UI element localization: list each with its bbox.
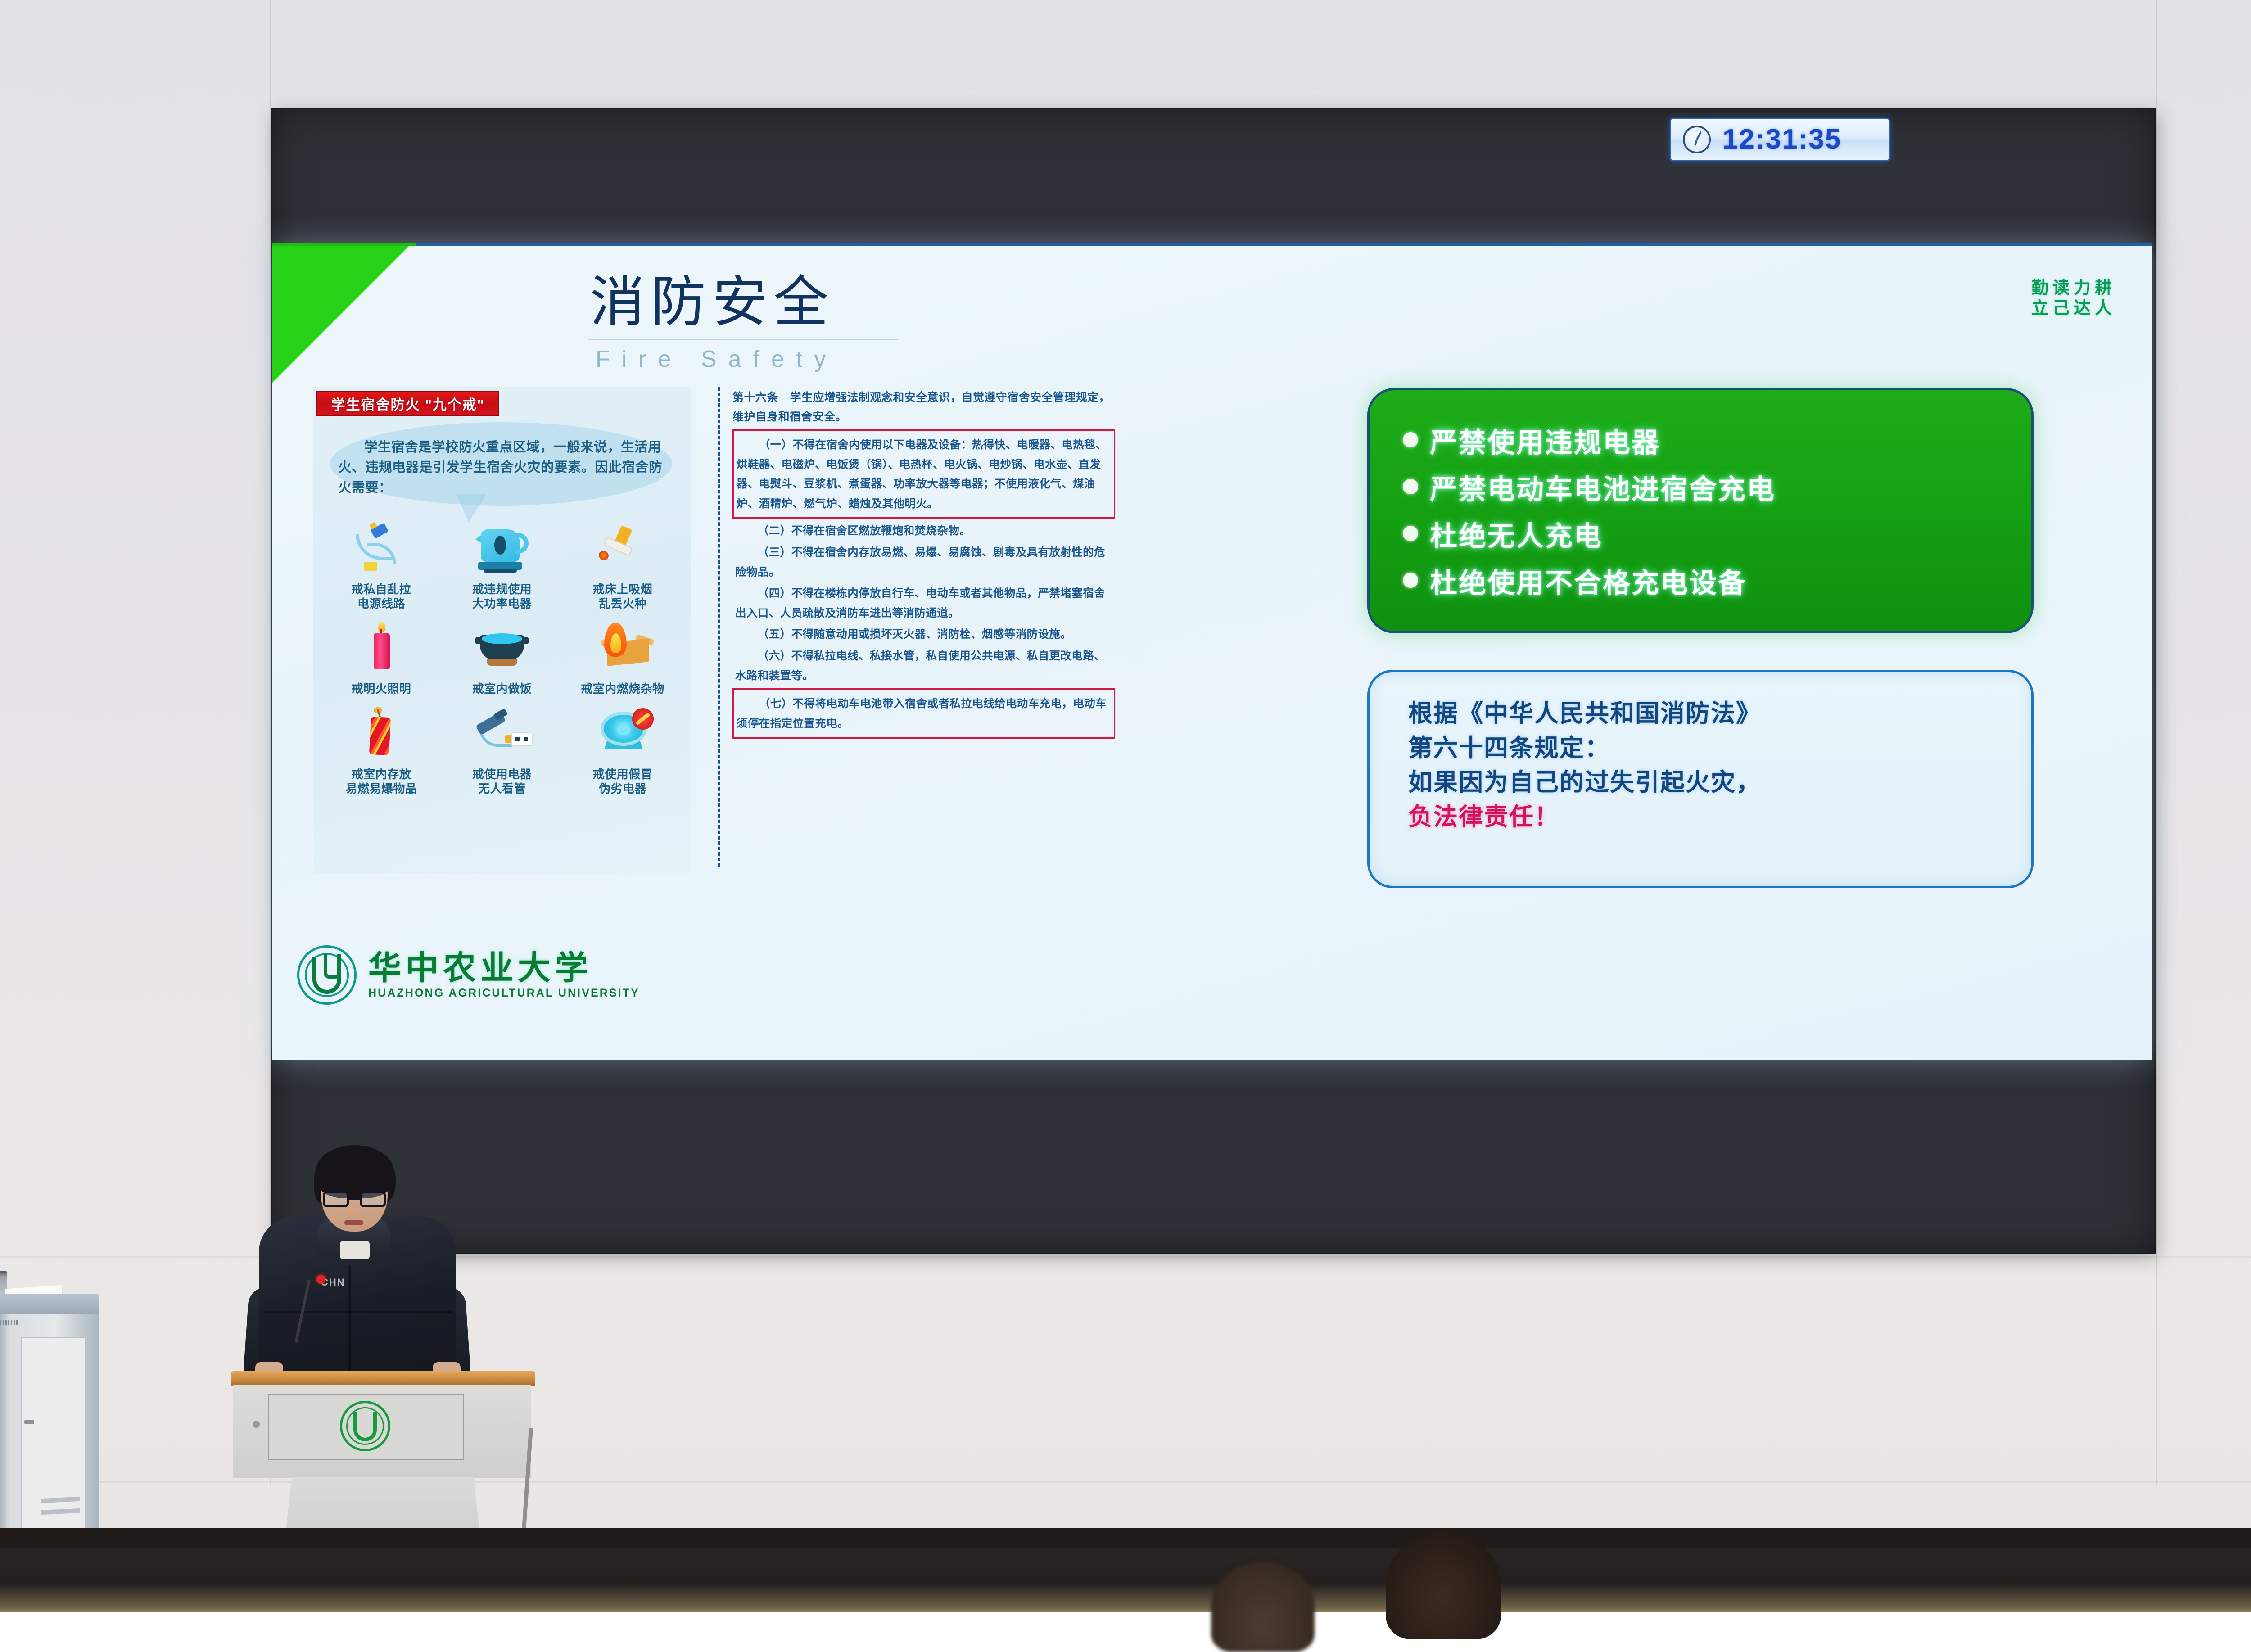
bullet-icon	[1403, 573, 1418, 588]
green-corner-edge	[272, 243, 416, 246]
icon-cell: 戒床上吸烟乱丢火种	[562, 522, 683, 611]
article-text: 学生应增强法制观念和安全意识，自觉遵守宿舍安全管理规定，维护自身和宿舍安全。	[732, 391, 1110, 423]
electric-kettle-icon	[468, 522, 536, 580]
clause-5: （五）不得随意动用或损坏灭火器、消防栓、烟感等消防设施。	[732, 624, 1115, 645]
counterfeit-fan-icon	[589, 707, 656, 765]
icon-cell: 戒室内做饭	[442, 622, 562, 696]
law-line-2: 第六十四条规定：	[1408, 731, 2031, 766]
microphone-indicator	[316, 1275, 325, 1284]
icon-label: 戒使用电器无人看管	[472, 767, 532, 796]
icon-cell: 戒使用假冒伪劣电器	[562, 707, 683, 796]
law-line-1: 根据《中华人民共和国消防法》	[1408, 696, 2031, 731]
clause-7: （七）不得将电动车电池带入宿舍或者私拉电线给电动车充电，电动车须停在指定位置充电…	[732, 688, 1115, 738]
green-box-label: 严禁使用违规电器	[1430, 420, 1660, 460]
clause-3: （三）不得在宿舍内存放易燃、易爆、易腐蚀、剧毒及具有放射性的危险物品。	[732, 542, 1115, 583]
icon-cell: 戒室内存放易燃易爆物品	[321, 707, 442, 796]
icon-cell: 戒私自乱拉电源线路	[321, 522, 442, 611]
motto-line-2: 立己达人	[2031, 298, 2116, 319]
icon-cell: 戒室内燃烧杂物	[562, 622, 683, 696]
article-term: 第十六条	[732, 391, 778, 404]
university-name-en: HUAZHONG AGRICULTURAL UNIVERSITY	[368, 987, 640, 999]
icon-label: 戒室内存放易燃易爆物品	[345, 767, 417, 796]
audience-head	[1211, 1562, 1315, 1652]
podium-university-crest-icon	[340, 1401, 390, 1451]
university-motto: 勤读力耕 立己达人	[2031, 278, 2116, 319]
icon-label: 戒明火照明	[352, 682, 411, 696]
icon-label: 戒私自乱拉电源线路	[352, 582, 411, 611]
university-name-cn: 华中农业大学	[368, 951, 640, 985]
page-subtitle: Fire Safety	[596, 346, 837, 373]
icon-label: 戒违规使用大功率电器	[472, 582, 532, 611]
unattended-appliance-icon	[468, 707, 536, 765]
presenter-shirt	[340, 1241, 370, 1259]
side-cabinet	[0, 1294, 99, 1551]
presenter-mouth	[344, 1220, 363, 1225]
icon-label: 戒室内做饭	[472, 682, 532, 696]
speech-bubble-tail	[456, 494, 487, 522]
title-divider	[588, 339, 898, 340]
cabinet-door[interactable]	[21, 1337, 86, 1535]
fire-law-blue-box: 根据《中华人民共和国消防法》 第六十四条规定： 如果因为自己的过失引起火灾， 负…	[1367, 670, 2034, 888]
podium-top	[231, 1371, 535, 1386]
presenter-hair	[316, 1145, 394, 1198]
prohibitions-green-box: 严禁使用违规电器 严禁电动车电池进宿舍充电 杜绝无人充电 杜绝使用不合格充电设备	[1367, 388, 2034, 633]
green-box-label: 杜绝使用不合格充电设备	[1430, 560, 1747, 600]
university-logo: 华中农业大学 HUAZHONG AGRICULTURAL UNIVERSITY	[297, 945, 640, 1005]
cabinet-handle[interactable]	[24, 1420, 34, 1424]
speech-bubble: 学生宿舍是学校防火重点区域，一般来说，生活用火、违规电器是引发学生宿舍火灾的要素…	[321, 422, 681, 519]
clock-widget: 12:31:35	[1670, 118, 1890, 161]
column-divider	[718, 387, 720, 867]
university-crest-icon	[297, 945, 357, 1005]
clause-6: （六）不得私拉电线、私接水管，私自使用公共电源、私自更改电路、水路和装置等。	[732, 645, 1115, 686]
cabinet-top	[0, 1294, 99, 1316]
clock-time: 12:31:35	[1722, 126, 1841, 153]
icon-label: 戒床上吸烟乱丢火种	[593, 582, 653, 611]
icon-cell: 戒违规使用大功率电器	[442, 522, 562, 611]
prohibition-badge-icon	[632, 708, 654, 730]
power-cord-icon	[348, 522, 415, 580]
baseboard	[0, 1528, 2251, 1550]
candle-icon	[348, 622, 415, 679]
dormitory-fire-prevention-infographic: 学生宿舍防火 "九个戒" 学生宿舍是学校防火重点区域，一般来说，生活用火、违规电…	[313, 387, 691, 873]
clock-icon	[1683, 126, 1711, 153]
bullet-icon	[1403, 479, 1418, 494]
motto-line-1: 勤读力耕	[2031, 278, 2116, 298]
prohibition-icon-grid: 戒私自乱拉电源线路 戒违规使用大功率电器 戒床上吸烟乱丢火种	[321, 522, 683, 796]
jacket-seam-vertical	[348, 1265, 351, 1377]
floor	[0, 1548, 2251, 1612]
cabinet-vent	[0, 1320, 18, 1325]
icon-cell: 戒明火照明	[321, 622, 442, 696]
page-title: 消防安全	[590, 275, 835, 329]
infographic-banner: 学生宿舍防火 "九个戒"	[316, 391, 499, 416]
lecture-hall-room: 12:31:35 消防安全 Fire Safety 勤读力耕 立己达人 学生宿舍…	[0, 0, 2251, 1612]
clause-2: （二）不得在宿舍区燃放鞭炮和焚烧杂物。	[732, 520, 1115, 542]
icon-label: 戒使用假冒伪劣电器	[593, 767, 653, 796]
green-box-item: 杜绝使用不合格充电设备	[1403, 557, 2031, 604]
bullet-icon	[1403, 526, 1418, 541]
jacket-seam-horizontal	[263, 1311, 452, 1313]
clause-4: （四）不得在楼栋内停放自行车、电动车或者其他物品，严禁堵塞宿舍出入口、人员疏散及…	[732, 583, 1115, 624]
audience-head	[1386, 1531, 1501, 1639]
university-name-block: 华中农业大学 HUAZHONG AGRICULTURAL UNIVERSITY	[368, 951, 640, 999]
green-box-label: 严禁电动车电池进宿舍充电	[1430, 467, 1776, 507]
law-line-3: 如果因为自己的过失引起火灾，	[1408, 765, 2031, 800]
clause-1: （一）不得在宿舍内使用以下电器及设备：热得快、电暖器、电热毯、烘鞋器、电磁炉、电…	[732, 429, 1115, 519]
green-corner-decoration	[272, 243, 412, 383]
presentation-slide: 消防安全 Fire Safety 勤读力耕 立己达人 学生宿舍防火 "九个戒" …	[272, 243, 2152, 1060]
cooking-pot-icon	[468, 622, 536, 679]
podium-knob	[253, 1421, 260, 1428]
green-box-label: 杜绝无人充电	[1430, 514, 1603, 554]
cigarette-icon	[589, 522, 656, 580]
speech-bubble-text: 学生宿舍是学校防火重点区域，一般来说，生活用火、违规电器是引发学生宿舍火灾的要素…	[338, 438, 662, 498]
regulation-document-column: 第十六条学生应增强法制观念和安全意识，自觉遵守宿舍安全管理规定，维护自身和宿舍安…	[732, 388, 1115, 740]
article-heading: 第十六条学生应增强法制观念和安全意识，自觉遵守宿舍安全管理规定，维护自身和宿舍安…	[732, 388, 1115, 427]
law-line-4-warning: 负法律责任！	[1408, 800, 2031, 835]
presenter-glasses-icon	[323, 1191, 386, 1207]
green-box-item: 严禁使用违规电器	[1403, 416, 2031, 463]
burning-box-icon	[589, 622, 656, 679]
slide-top-rule	[272, 243, 2152, 246]
firecracker-icon	[348, 707, 415, 765]
icon-label: 戒室内燃烧杂物	[581, 682, 664, 696]
icon-cell: 戒使用电器无人看管	[442, 707, 562, 796]
green-box-item: 杜绝无人充电	[1403, 510, 2031, 557]
bullet-icon	[1403, 432, 1418, 447]
wall-seam	[2156, 0, 2157, 1485]
infographic-banner-label: 学生宿舍防火 "九个戒"	[331, 393, 484, 414]
green-box-item: 严禁电动车电池进宿舍充电	[1403, 463, 2031, 510]
